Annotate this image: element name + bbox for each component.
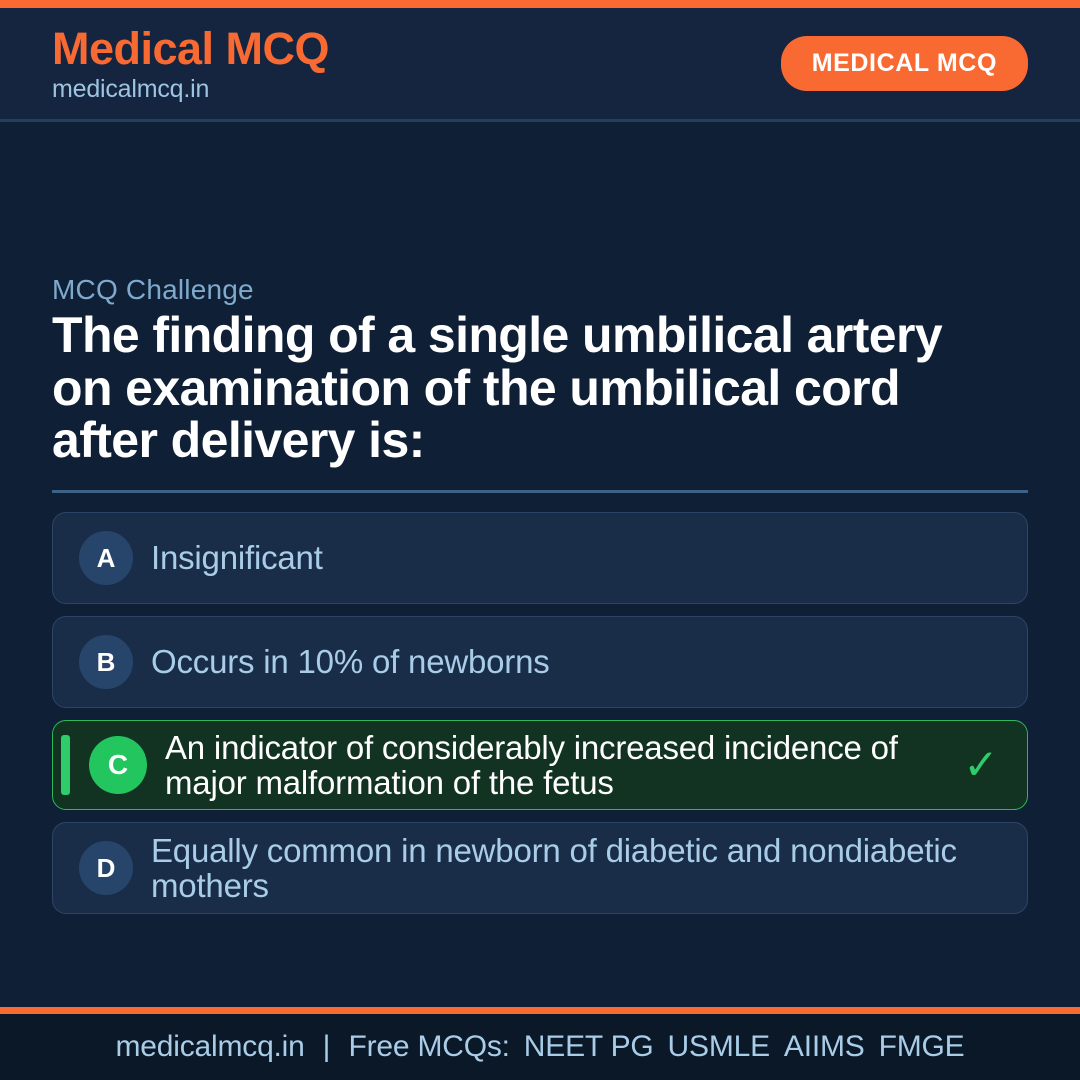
exam-aiims: AIIMS [784,1030,865,1063]
main-content: MCQ Challenge The finding of a single um… [0,122,1080,1007]
option-a-badge: A [79,531,133,585]
option-c-correct[interactable]: C An indicator of considerably increased… [52,720,1028,810]
brand-title: Medical MCQ [52,26,329,71]
correct-accent-bar [61,735,70,795]
option-d-badge: D [79,841,133,895]
option-a-text: Insignificant [151,540,1003,575]
brand-block: Medical MCQ medicalmcq.in [52,26,329,102]
option-d[interactable]: D Equally common in newborn of diabetic … [52,822,1028,914]
question-text: The finding of a single umbilical artery… [52,309,992,467]
header-badge: MEDICAL MCQ [781,36,1028,91]
section-divider [52,490,1028,493]
footer-bar: medicalmcq.in | Free MCQs:NEET PGUSMLEAI… [0,1014,1080,1080]
mcq-card: Medical MCQ medicalmcq.in MEDICAL MCQ MC… [0,0,1080,1080]
option-d-text: Equally common in newborn of diabetic an… [151,833,1003,904]
brand-subtitle: medicalmcq.in [52,77,329,102]
option-c-text: An indicator of considerably increased i… [165,730,949,801]
footer-site: medicalmcq.in [116,1030,305,1064]
footer-separator: | [305,1030,349,1064]
checkmark-icon: ✓ [959,744,1003,786]
option-b-text: Occurs in 10% of newborns [151,644,1003,679]
footer-accent-stripe [0,1007,1080,1014]
exam-fmge: FMGE [879,1030,965,1063]
exam-neet-pg: NEET PG [524,1030,654,1063]
top-accent-stripe [0,0,1080,8]
footer-label: Free MCQs: [348,1030,509,1063]
option-b-badge: B [79,635,133,689]
exam-usmle: USMLE [668,1030,770,1063]
option-b[interactable]: B Occurs in 10% of newborns [52,616,1028,708]
option-a[interactable]: A Insignificant [52,512,1028,604]
footer-exams: Free MCQs:NEET PGUSMLEAIIMSFMGE [348,1030,964,1064]
option-c-badge: C [89,736,147,794]
header-bar: Medical MCQ medicalmcq.in MEDICAL MCQ [0,8,1080,122]
eyebrow-label: MCQ Challenge [52,274,254,306]
options-list: A Insignificant B Occurs in 10% of newbo… [52,512,1028,926]
